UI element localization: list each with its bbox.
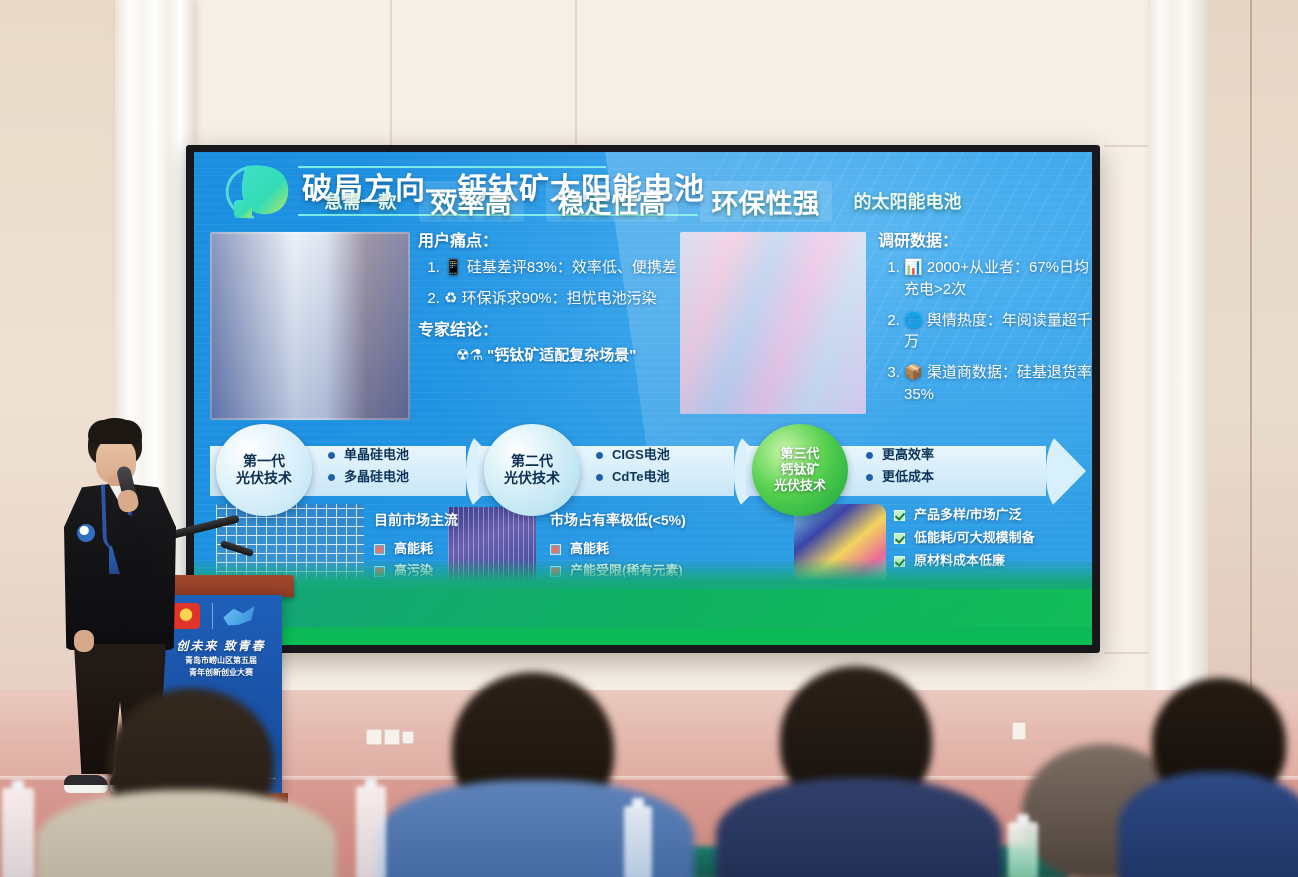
generation-circle-1[interactable]: 第一代光伏技术 — [216, 424, 312, 516]
lapel-pin-icon — [77, 524, 95, 542]
banner-highlight: 效率高 — [419, 181, 524, 222]
technology-generation-flow: 第一代光伏技术 单晶硅电池 多晶硅电池 第二代光伏技术 CIGS电池 CdTe电… — [210, 428, 1090, 514]
wall-socket — [366, 729, 382, 745]
water-bottle[interactable] — [2, 788, 34, 877]
pain-points-block: 用户痛点： 📱 硅基差评83%：效率低、便携差 ♻ 环保诉求90%：担忧电池污染… — [418, 230, 686, 367]
presentation-screen[interactable]: 破局方向—钙钛矿太阳能电池 用户痛点： 📱 硅基差评83%：效率低、便携差 ♻ — [186, 145, 1100, 653]
banner-band — [194, 589, 1092, 627]
wall-socket — [384, 729, 400, 745]
fluted-column-right — [1148, 0, 1208, 760]
microscope-icon: ⚗ — [469, 347, 482, 364]
survey-item: 📊 2000+从业者：67%日均充电>2次 — [904, 257, 1092, 301]
presenter-shoe — [64, 775, 108, 793]
comparison-item: 高能耗 — [374, 538, 480, 561]
generation-circle-3[interactable]: 第三代钙钛矿光伏技术 — [752, 424, 848, 516]
presenter-fringe — [88, 420, 142, 444]
bar-chart-icon: 📊 — [904, 259, 923, 276]
survey-item: 📦 渠道商数据：硅基退货率35% — [904, 362, 1092, 406]
wall-seam — [1250, 0, 1252, 800]
generation-1-bullets: 单晶硅电池 多晶硅电池 — [328, 444, 409, 488]
wall-socket — [402, 731, 414, 744]
pain-points-heading: 用户痛点： — [418, 230, 686, 253]
wall-seam — [1104, 652, 1150, 654]
logo-divider — [212, 603, 213, 629]
mobile-phone-icon: 📱 — [444, 259, 463, 276]
box-icon: 📦 — [904, 364, 923, 381]
banner-suffix: 的太阳能电池 — [854, 188, 962, 214]
wall-socket — [1012, 722, 1026, 740]
scientist-icon: ☢ — [456, 347, 469, 364]
audience-torso — [36, 790, 336, 877]
comparison-heading: 市场占有率极低(<5%) — [550, 508, 782, 533]
slide-bottom-banner — [194, 559, 1092, 645]
recycle-icon: ♻ — [444, 290, 457, 307]
comparison-item: 低能耗/可大规模制备 — [894, 527, 1084, 550]
comparison-heading: 目前市场主流 — [374, 508, 480, 533]
survey-data-heading: 调研数据： — [878, 230, 1092, 253]
quote-text: "钙钛矿适配复杂场景" — [487, 347, 636, 364]
library-interview-photo — [210, 232, 410, 420]
survey-item-text: 2000+从业者：67%日均充电>2次 — [904, 259, 1089, 298]
survey-item-text: 渠道商数据：硅基退货率35% — [904, 364, 1092, 403]
banner-highlight: 环保性强 — [700, 181, 832, 222]
globe-icon: 🌐 — [904, 312, 923, 329]
water-bottle[interactable] — [356, 786, 386, 877]
generation-circle-2[interactable]: 第二代光伏技术 — [484, 424, 580, 516]
survey-item-text: 舆情热度：年阅读量超千万 — [904, 312, 1092, 351]
water-bottle[interactable] — [1008, 822, 1038, 877]
generation-2-bullets: CIGS电池 CdTe电池 — [596, 444, 670, 488]
audience-torso — [716, 778, 1002, 877]
qingdao-wave-logo-icon — [222, 603, 256, 629]
banner-text-row: 急需一款 效率高 稳定性高 环保性强 的太阳能电池 — [194, 180, 1092, 222]
expert-conclusion-heading: 专家结论： — [418, 319, 686, 342]
check-mark-icon — [894, 510, 905, 521]
pain-point-item: ♻ 环保诉求90%：担忧电池污染 — [444, 288, 686, 310]
banner-prefix: 急需一款 — [325, 188, 397, 214]
expert-conclusion-quote: ☢⚗ "钙钛矿适配复杂场景" — [418, 345, 686, 367]
wall-seam — [575, 0, 577, 150]
banner-highlight: 稳定性高 — [546, 181, 678, 222]
generation-3-bullets: 更高效率 更低成本 — [866, 444, 934, 488]
wall-seam — [1104, 145, 1150, 147]
pain-point-item: 📱 硅基差评83%：效率低、便携差 — [444, 257, 686, 279]
survey-item: 🌐 舆情热度：年阅读量超千万 — [904, 310, 1092, 354]
comparison-item: 产品多样/市场广泛 — [894, 504, 1084, 527]
conference-room-scene: 破局方向—钙钛矿太阳能电池 用户痛点： 📱 硅基差评83%：效率低、便携差 ♻ — [0, 0, 1298, 877]
pain-point-text: 环保诉求90%：担忧电池污染 — [462, 290, 657, 307]
check-mark-icon — [894, 533, 905, 544]
street-survey-photo — [680, 232, 866, 414]
x-mark-icon — [550, 544, 561, 555]
x-mark-icon — [374, 544, 385, 555]
pain-point-text: 硅基差评83%：效率低、便携差 — [467, 259, 677, 276]
audience-torso — [1118, 772, 1298, 877]
water-bottle[interactable] — [624, 806, 652, 877]
survey-data-block: 调研数据： 📊 2000+从业者：67%日均充电>2次 🌐 舆情热度：年阅读量超… — [878, 230, 1092, 415]
presenter-hand — [74, 630, 94, 652]
slide-content: 破局方向—钙钛矿太阳能电池 用户痛点： 📱 硅基差评83%：效率低、便携差 ♻ — [194, 152, 1092, 645]
comparison-item: 高能耗 — [550, 538, 782, 561]
